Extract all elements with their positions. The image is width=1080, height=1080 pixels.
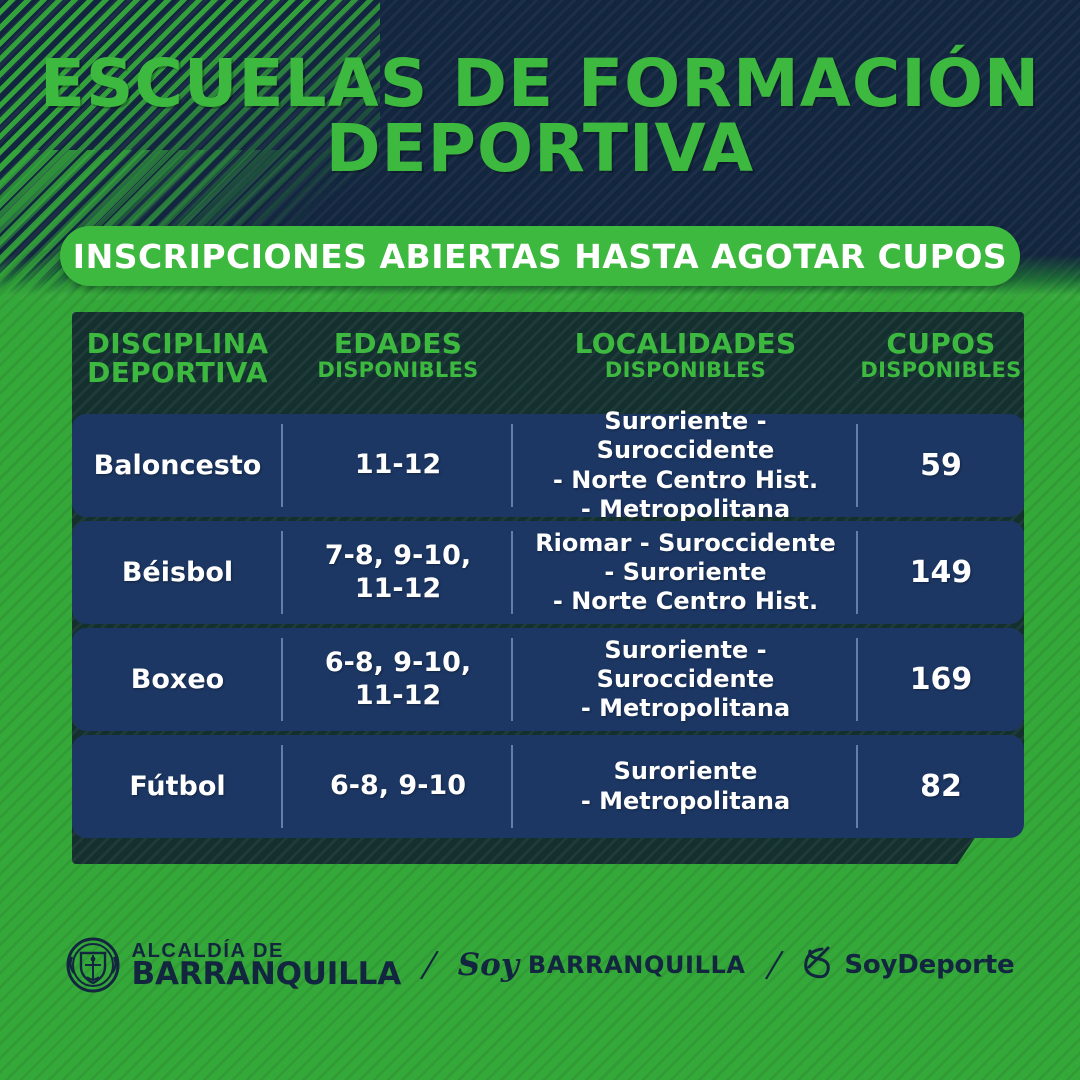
- cell-localidades: Suroriente - Suroccidente - Norte Centro…: [513, 414, 858, 517]
- table-header-cupos-primary: CUPOS: [886, 330, 995, 359]
- cell-edades: 11-12: [283, 414, 513, 517]
- announcement-banner-text: INSCRIPCIONES ABIERTAS HASTA AGOTAR CUPO…: [73, 237, 1007, 276]
- footer-logos: ALCALDÍA DE BARRANQUILLA / Soy BARRANQUI…: [0, 930, 1080, 1000]
- coat-of-arms-icon: [66, 937, 120, 993]
- table-header-edades-secondary: DISPONIBLES: [317, 359, 478, 381]
- cell-cupos: 149: [858, 521, 1024, 624]
- soy-deporte-text: SoyDeporte: [844, 950, 1014, 980]
- table-header-localidades-primary: LOCALIDADES: [575, 330, 797, 359]
- table-header-disciplina-secondary: DEPORTIVA: [87, 359, 268, 388]
- soy-deporte-mark-icon: [802, 945, 836, 985]
- footer-separator-1: /: [418, 941, 440, 989]
- alcaldia-line2: BARRANQUILLA: [132, 960, 401, 989]
- soy-deporte-logo: SoyDeporte: [802, 945, 1014, 985]
- table-body: Baloncesto 11-12 Suroriente - Surocciden…: [72, 414, 1024, 842]
- cell-edades: 7-8, 9-10, 11-12: [283, 521, 513, 624]
- table-header-row: DISCIPLINA DEPORTIVA EDADES DISPONIBLES …: [72, 330, 1024, 410]
- cell-edades: 6-8, 9-10, 11-12: [283, 628, 513, 731]
- announcement-banner: INSCRIPCIONES ABIERTAS HASTA AGOTAR CUPO…: [60, 226, 1020, 286]
- soy-barranquilla-text: BARRANQUILLA: [528, 951, 746, 979]
- table-row: Fútbol 6-8, 9-10 Suroriente - Metropolit…: [72, 735, 1024, 838]
- cell-cupos: 59: [858, 414, 1024, 517]
- table-header-localidades-secondary: DISPONIBLES: [605, 359, 766, 381]
- cell-localidades: Suroriente - Metropolitana: [513, 735, 858, 838]
- soy-barranquilla-logo: Soy BARRANQUILLA: [458, 947, 746, 983]
- cell-localidades: Riomar - Suroccidente - Suroriente - Nor…: [513, 521, 858, 624]
- cell-edades: 6-8, 9-10: [283, 735, 513, 838]
- cell-disciplina: Boxeo: [72, 628, 283, 731]
- table-row: Baloncesto 11-12 Suroriente - Surocciden…: [72, 414, 1024, 517]
- soy-script-text: Soy: [458, 947, 519, 983]
- table-header-disciplina-primary: DISCIPLINA: [87, 330, 269, 359]
- table-header-disciplina: DISCIPLINA DEPORTIVA: [72, 330, 283, 410]
- table-header-edades: EDADES DISPONIBLES: [283, 330, 513, 410]
- page-title: ESCUELAS DE FORMACIÓN DEPORTIVA: [0, 52, 1080, 181]
- page-title-line2: DEPORTIVA: [0, 117, 1080, 182]
- table-row: Boxeo 6-8, 9-10, 11-12 Suroriente - Suro…: [72, 628, 1024, 731]
- table-header-localidades: LOCALIDADES DISPONIBLES: [513, 330, 858, 410]
- poster-canvas: ESCUELAS DE FORMACIÓN DEPORTIVA INSCRIPC…: [0, 0, 1080, 1080]
- alcaldia-logo: ALCALDÍA DE BARRANQUILLA: [66, 937, 401, 993]
- table-header-cupos: CUPOS DISPONIBLES: [858, 330, 1024, 410]
- cell-cupos: 82: [858, 735, 1024, 838]
- cell-cupos: 169: [858, 628, 1024, 731]
- cell-disciplina: Baloncesto: [72, 414, 283, 517]
- cell-localidades: Suroriente - Suroccidente - Metropolitan…: [513, 628, 858, 731]
- table-row: Béisbol 7-8, 9-10, 11-12 Riomar - Surocc…: [72, 521, 1024, 624]
- footer-separator-2: /: [763, 941, 785, 989]
- cell-disciplina: Béisbol: [72, 521, 283, 624]
- alcaldia-wordmark: ALCALDÍA DE BARRANQUILLA: [132, 942, 401, 989]
- table-header-cupos-secondary: DISPONIBLES: [860, 359, 1021, 381]
- cell-disciplina: Fútbol: [72, 735, 283, 838]
- table-header-edades-primary: EDADES: [334, 330, 462, 359]
